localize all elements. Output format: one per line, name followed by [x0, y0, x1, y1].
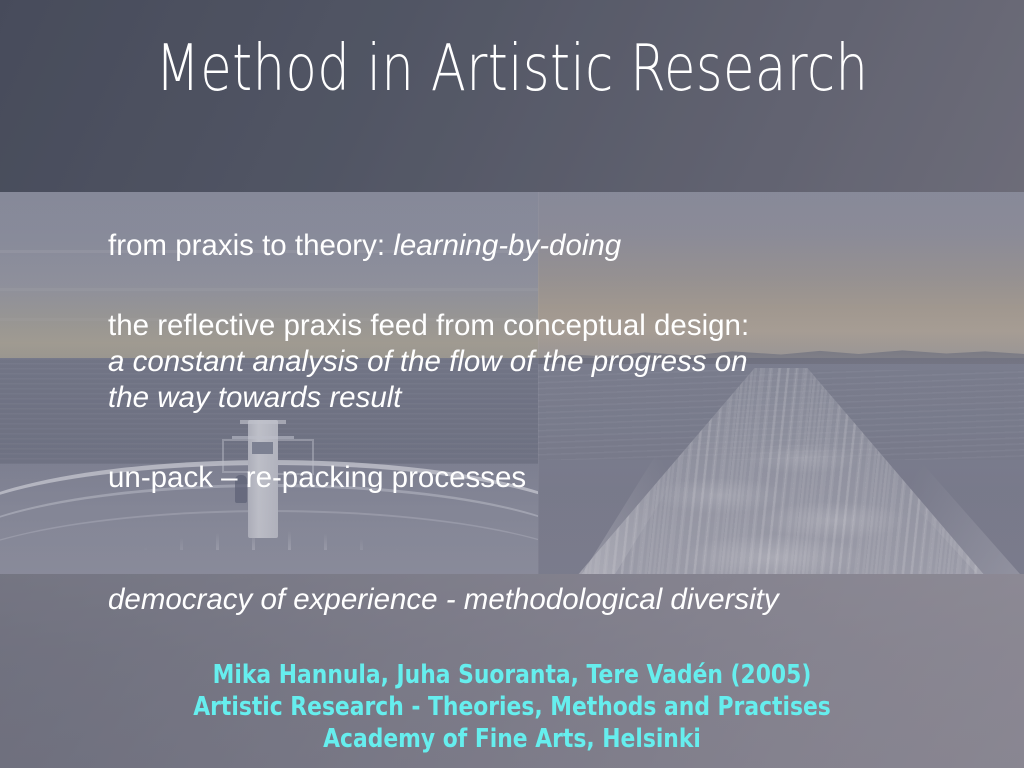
body-line-1: from praxis to theory: learning-by-doing: [108, 228, 998, 264]
slide-title: Method in Artistic Research: [102, 36, 921, 103]
emphasis-line: democracy of experience - methodological…: [108, 582, 779, 618]
presentation-slide: Method in Artistic Research from praxis …: [0, 0, 1024, 768]
spacer: [108, 416, 998, 460]
citation-work: Artistic Research - Theories, Methods an…: [82, 691, 942, 723]
body-line-4: the way towards result: [108, 380, 998, 416]
spacer: [108, 264, 998, 308]
citation-authors: Mika Hannula, Juha Suoranta, Tere Vadén …: [82, 659, 942, 691]
body-line-1-italic: learning-by-doing: [393, 229, 621, 262]
body-line-3: a constant analysis of the flow of the p…: [108, 344, 998, 380]
body-line-1-plain: from praxis to theory:: [108, 229, 393, 262]
body-line-5: un-pack – re-packing processes: [108, 460, 998, 496]
citation-institution: Academy of Fine Arts, Helsinki: [82, 723, 942, 755]
citation-block: Mika Hannula, Juha Suoranta, Tere Vadén …: [0, 659, 1024, 755]
body-line-2: the reflective praxis feed from conceptu…: [108, 308, 998, 344]
slide-body: from praxis to theory: learning-by-doing…: [108, 228, 998, 496]
